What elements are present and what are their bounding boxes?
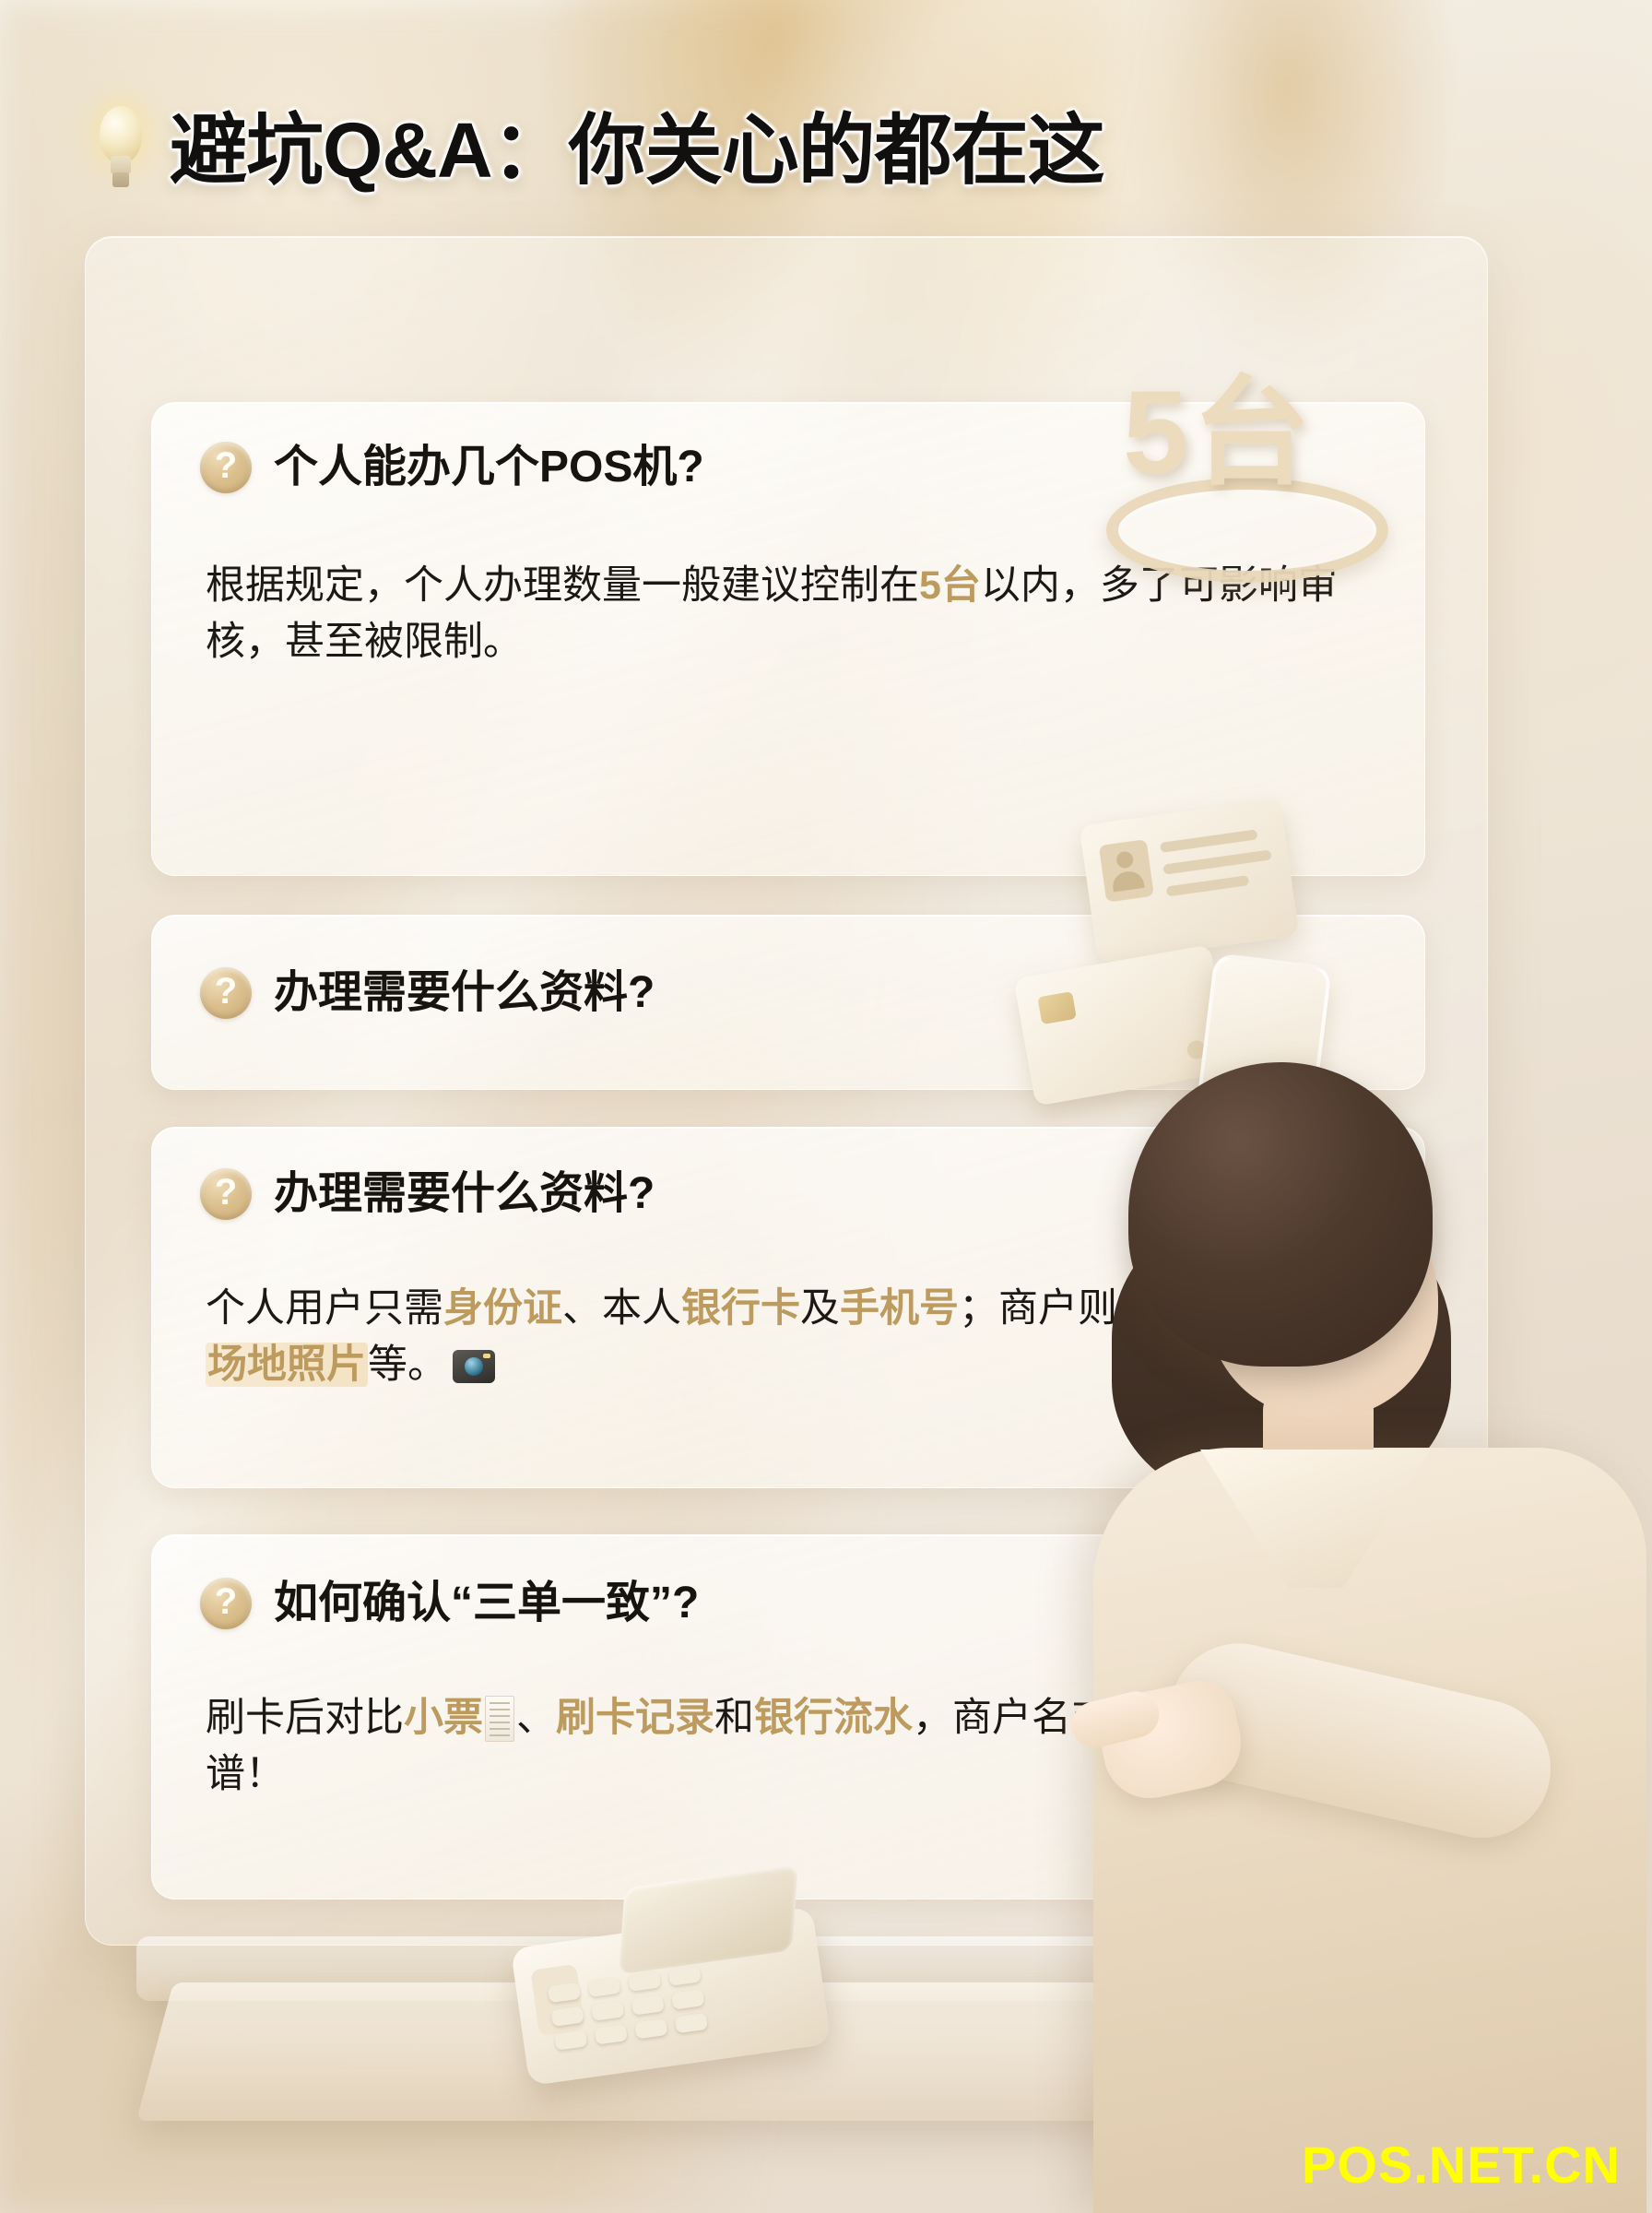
answer-seg: 和 <box>714 1696 754 1740</box>
answer-seg: 及 <box>800 1286 840 1331</box>
question-row: ? 如何确认“三单一致”? <box>200 1578 704 1630</box>
answer-seg: 刷卡后对比 <box>206 1696 404 1740</box>
question-mark-icon: ? <box>200 967 252 1019</box>
answer-seg: 根据规定，个人办理数量一般建议控制在 <box>206 563 919 608</box>
question-mark-icon: ? <box>200 442 252 493</box>
answer-seg: 个人用户只需 <box>206 1286 443 1331</box>
five-units-glyph: 5台 <box>1123 374 1314 492</box>
answer-seg: 、本人 <box>562 1286 681 1331</box>
answer-highlight: 刷卡记录 <box>556 1696 714 1740</box>
id-card-icon <box>1080 798 1300 963</box>
five-units-prop: 5台 <box>1088 369 1392 572</box>
answer-highlight: 小票 <box>404 1696 483 1740</box>
page-title: 避坑Q&A：你关心的都在这 <box>170 112 1104 189</box>
answer-seg: 、 <box>516 1696 556 1740</box>
body <box>1093 1448 1646 2213</box>
receipt-icon <box>485 1696 514 1742</box>
question-title: 如何确认“三单一致”? <box>268 1578 704 1630</box>
answer-seg: 等。 <box>368 1343 447 1387</box>
question-row: ? 办理需要什么资料? <box>200 1168 660 1221</box>
answer-highlight: 场地照片 <box>206 1343 368 1387</box>
camera-icon <box>453 1350 495 1383</box>
watermark: POS.NET.CN <box>1302 2139 1621 2191</box>
question-row: ? 个人能办几个POS机? <box>200 442 710 494</box>
question-row: ? 办理需要什么资料? <box>200 967 660 1020</box>
hair <box>1128 1062 1433 1367</box>
question-title: 个人能办几个POS机? <box>268 442 710 494</box>
answer-highlight: 身份证 <box>443 1286 562 1331</box>
lightbulb-icon <box>92 104 149 196</box>
page-header: 避坑Q&A：你关心的都在这 <box>92 100 1106 201</box>
question-mark-icon: ? <box>200 1168 252 1220</box>
character-illustration <box>931 1051 1652 2213</box>
answer-highlight: 银行卡 <box>681 1286 800 1331</box>
question-title: 办理需要什么资料? <box>268 967 660 1020</box>
question-mark-icon: ? <box>200 1578 252 1629</box>
answer-highlight: 银行流水 <box>754 1696 913 1740</box>
answer-highlight: 5台 <box>919 563 981 608</box>
question-title: 办理需要什么资料? <box>268 1168 660 1221</box>
